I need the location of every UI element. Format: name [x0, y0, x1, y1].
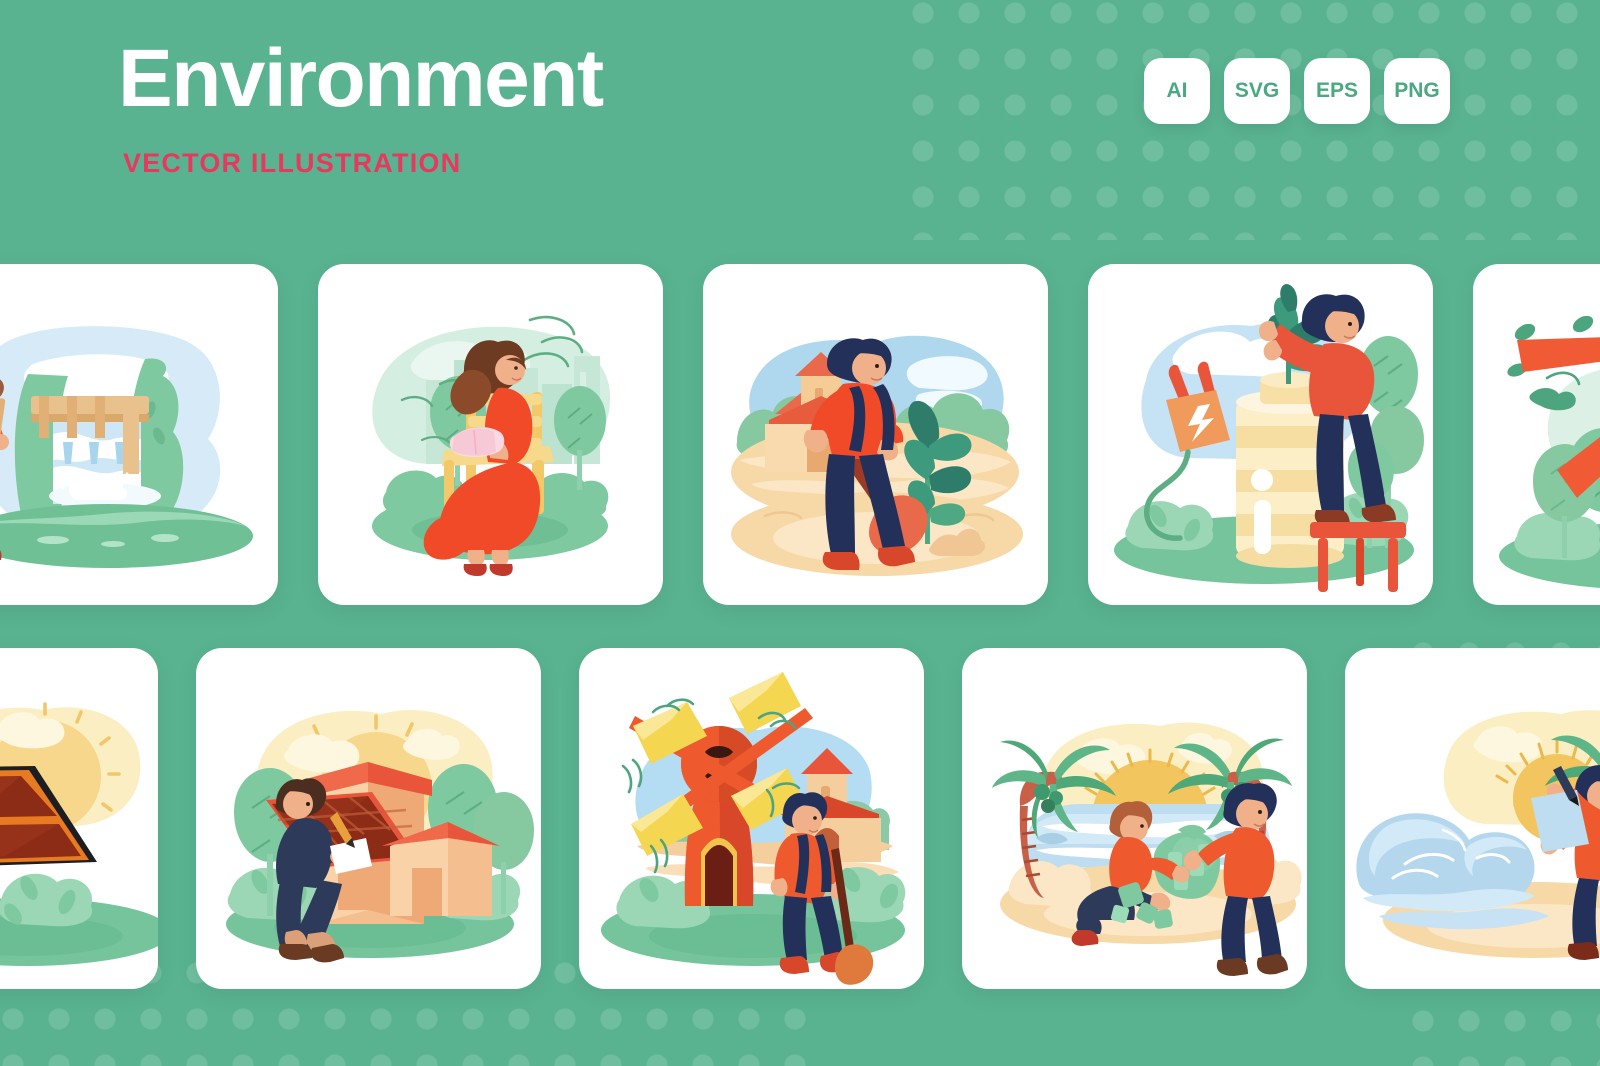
green-battery-illustration: [1088, 264, 1433, 605]
ocean-wave-illustration: [1345, 648, 1600, 989]
badge-png[interactable]: PNG: [1384, 58, 1450, 124]
reading-bench-illustration: [318, 264, 663, 605]
card-wind-turbine[interactable]: [1473, 264, 1600, 605]
format-badge-group: AI SVG EPS PNG: [1144, 58, 1450, 124]
illustration-row-1: [0, 264, 1533, 605]
beach-cleanup-illustration: [962, 648, 1307, 989]
badge-eps-label: EPS: [1316, 79, 1358, 103]
badge-eps[interactable]: EPS: [1304, 58, 1370, 124]
card-ocean-wave[interactable]: [1345, 648, 1600, 989]
wind-turbine-illustration: [1473, 264, 1600, 605]
card-beach-cleanup[interactable]: [962, 648, 1307, 989]
solar-panel-illustration: [0, 648, 158, 989]
card-hydro-dam[interactable]: [0, 264, 278, 605]
illustration-row-2: [0, 648, 1413, 989]
badge-svg[interactable]: SVG: [1224, 58, 1290, 124]
card-windmill-farm[interactable]: [579, 648, 924, 989]
card-solar-panel[interactable]: [0, 648, 158, 989]
card-reading-bench[interactable]: [318, 264, 663, 605]
badge-png-label: PNG: [1394, 79, 1440, 103]
badge-svg-label: SVG: [1235, 79, 1279, 103]
windmill-farm-illustration: [579, 648, 924, 989]
card-planting-tree[interactable]: [703, 264, 1048, 605]
badge-ai[interactable]: AI: [1144, 58, 1210, 124]
header: Environment VECTOR ILLUSTRATION AI SVG E…: [0, 0, 1600, 250]
solar-house-illustration: [196, 648, 541, 989]
card-solar-house[interactable]: [196, 648, 541, 989]
badge-ai-label: AI: [1167, 79, 1188, 103]
planting-tree-illustration: [703, 264, 1048, 605]
page-title: Environment: [118, 38, 603, 120]
card-green-battery[interactable]: [1088, 264, 1433, 605]
page-subtitle: VECTOR ILLUSTRATION: [123, 148, 461, 179]
hydro-dam-illustration: [0, 264, 278, 605]
